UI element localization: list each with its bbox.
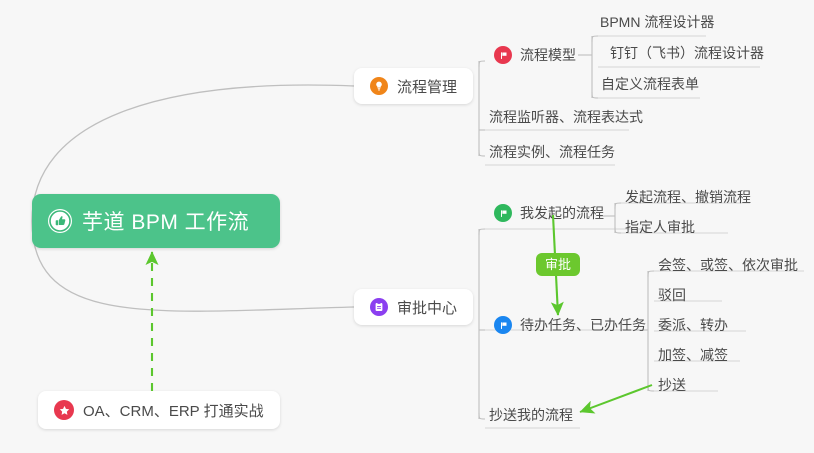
edge-corner-bottom-ms xyxy=(615,227,621,233)
leaf-reject[interactable]: 驳回 xyxy=(658,284,686,309)
edge-corner-bottom-ac xyxy=(479,413,485,419)
leaf-bpmn-designer[interactable]: BPMN 流程设计器 xyxy=(600,11,714,36)
root-node[interactable]: 芋道 BPM 工作流 xyxy=(32,194,280,248)
leaf-countersign-orsign-sequential[interactable]: 会签、或签、依次审批 xyxy=(658,254,798,279)
sub-label-my-started-process: 我发起的流程 xyxy=(520,203,604,223)
edge-corner-bottom-pm xyxy=(479,150,485,156)
branch-label-approval-center: 审批中心 xyxy=(397,297,457,318)
branch-label-process-management: 流程管理 xyxy=(397,76,457,97)
sub-label-process-model: 流程模型 xyxy=(520,45,576,65)
branch-node-approval-center[interactable]: 审批中心 xyxy=(354,289,473,325)
leaf-process-listener-expression[interactable]: 流程监听器、流程表达式 xyxy=(489,106,643,131)
leaf-dingtalk-designer[interactable]: 钉钉（飞书）流程设计器 xyxy=(610,42,764,67)
leaf-process-instance-task[interactable]: 流程实例、流程任务 xyxy=(489,141,615,166)
leaf-delegate-transfer[interactable]: 委派、转办 xyxy=(658,314,728,339)
sub-label-todo-done-tasks: 待办任务、已办任务 xyxy=(520,315,646,335)
annotation-chip-approval: 审批 xyxy=(536,253,580,276)
flag-icon xyxy=(494,46,512,64)
leaf-start-cancel-process[interactable]: 发起流程、撤销流程 xyxy=(625,186,751,211)
lightbulb-icon xyxy=(370,77,388,95)
root-label: 芋道 BPM 工作流 xyxy=(82,206,249,236)
edge-corner-bottom-todo xyxy=(648,385,654,391)
leaf-custom-process-form[interactable]: 自定义流程表单 xyxy=(601,73,699,98)
star-icon xyxy=(54,400,74,420)
edge-corner-top-todo xyxy=(648,271,654,277)
leaf-add-remove-sign[interactable]: 加签、减签 xyxy=(658,344,728,369)
sub-node-my-started-process[interactable]: 我发起的流程 xyxy=(494,201,604,225)
edge-corner-top-pm xyxy=(479,61,485,67)
bottom-note-label: OA、CRM、ERP 打通实战 xyxy=(83,400,264,421)
thumbs-up-icon xyxy=(48,209,72,233)
flag-icon xyxy=(494,204,512,222)
edge-corner-top-pmodel xyxy=(592,36,598,42)
branch-node-process-management[interactable]: 流程管理 xyxy=(354,68,473,104)
leaf-assignee-approval[interactable]: 指定人审批 xyxy=(625,216,695,241)
leaf-cc-my-process[interactable]: 抄送我的流程 xyxy=(489,404,573,429)
clipboard-icon xyxy=(370,298,388,316)
mindmap-canvas: 芋道 BPM 工作流 流程管理 流程模型 BPMN 流程设计器 钉钉（飞书）流程… xyxy=(0,0,814,453)
edge-corner-top-ac xyxy=(479,229,485,235)
sub-node-todo-done-tasks[interactable]: 待办任务、已办任务 xyxy=(494,313,646,337)
flag-icon xyxy=(494,316,512,334)
leaf-cc[interactable]: 抄送 xyxy=(658,374,686,399)
sub-node-process-model[interactable]: 流程模型 xyxy=(494,43,576,67)
edge-corner-top-ms xyxy=(615,203,621,209)
bottom-note-node[interactable]: OA、CRM、ERP 打通实战 xyxy=(38,391,280,429)
edge-corner-bottom-pmodel xyxy=(592,92,598,98)
